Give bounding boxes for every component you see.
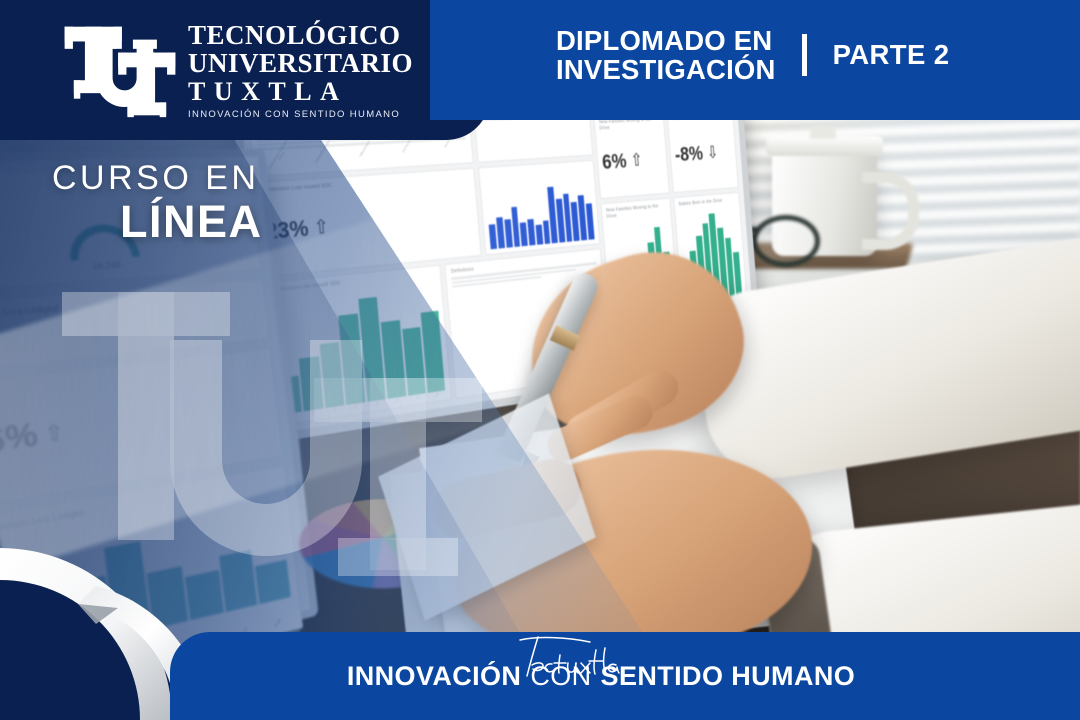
hero-line-1: CURSO EN: [52, 160, 263, 197]
lens-right: [752, 215, 820, 267]
arrow-down-icon: ⇩: [706, 142, 719, 164]
hero-heading: CURSO EN LÍNEA: [52, 160, 263, 246]
footer-word-3: SENTIDO HUMANO: [601, 661, 856, 692]
header-title-group: DIPLOMADO EN INVESTIGACIÓN PARTE 2: [556, 26, 949, 84]
dashboard-card-new-families: New Families Moving to the Drive 6% ⇧: [593, 111, 669, 199]
kpi-number: -8%: [674, 142, 704, 167]
logo-tagline: INNOVACIÓN CON SENTIDO HUMANO: [188, 110, 413, 120]
mug-lid: [766, 136, 883, 156]
part-label: PARTE 2: [833, 39, 950, 71]
footer-word-1: INNOVACIÓN: [347, 661, 522, 692]
kpi-value: 6% ⇧: [601, 147, 662, 174]
footer-tagline: INNOVACIÓN CON SENTIDO HUMANO: [170, 632, 1080, 720]
logo-line-3: TUXTLA: [188, 79, 413, 105]
course-title: DIPLOMADO EN INVESTIGACIÓN: [556, 26, 776, 84]
footer-bar: INNOVACIÓN CON SENTIDO HUMANO: [170, 632, 1080, 720]
promo-banner: Cardinal Road Employment PermitCardinal …: [0, 0, 1080, 720]
course-title-line-2: INVESTIGACIÓN: [556, 55, 776, 84]
footer-word-2: CON: [530, 661, 591, 692]
title-divider: [802, 34, 807, 76]
dashboard-card-babies-born: Babies Born in the Drive -8% ⇩: [667, 108, 739, 193]
logo-line-2: UNIVERSITARIO: [188, 50, 413, 77]
tut-monogram-icon: [62, 23, 178, 119]
kpi-value: -8% ⇩: [674, 140, 732, 166]
course-title-line-1: DIPLOMADO EN: [556, 26, 776, 55]
mug-knob: [810, 126, 836, 139]
mug-handle: [862, 172, 919, 250]
logo-line-1: TECNOLÓGICO: [188, 22, 413, 49]
dashboard-card-blank: [474, 115, 592, 162]
hero-line-2: LÍNEA: [52, 198, 263, 245]
institution-logo: TECNOLÓGICO UNIVERSITARIO TUXTLA INNOVAC…: [62, 22, 413, 120]
arrow-up-icon: ⇧: [630, 149, 644, 171]
kpi-number: 6%: [601, 149, 627, 174]
logo-wordmark: TECNOLÓGICO UNIVERSITARIO TUXTLA INNOVAC…: [188, 22, 413, 120]
